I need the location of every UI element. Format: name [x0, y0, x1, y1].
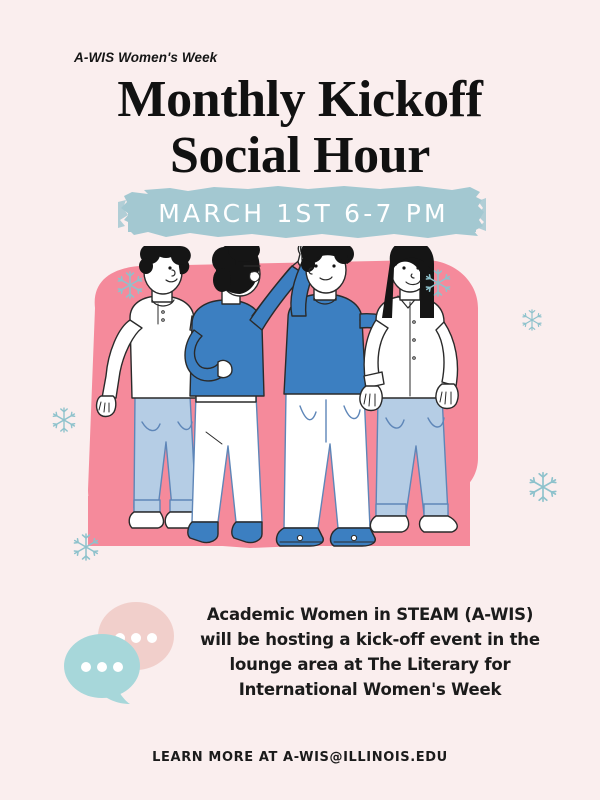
body-copy: Academic Women in STEAM (A-WIS) will be … [150, 602, 590, 702]
title-line-2: Social Hour [0, 128, 600, 184]
snowflake-icon [530, 473, 556, 502]
date-banner-text: MARCH 1ST 6-7 PM [118, 182, 486, 244]
eyebrow-label: A-WIS Women's Week [74, 50, 217, 65]
body-line-4: International Women's Week [150, 677, 590, 702]
body-line-2: will be hosting a kick-off event in the [150, 627, 590, 652]
title-line-1: Monthly Kickoff [0, 72, 600, 128]
speech-bubble-teal [64, 634, 140, 704]
body-line-1: Academic Women in STEAM (A-WIS) [150, 602, 590, 627]
date-banner: MARCH 1ST 6-7 PM [118, 182, 486, 244]
footer-contact: LEARN MORE AT A-WIS@ILLINOIS.EDU [0, 750, 600, 765]
body-line-3: lounge area at The Literary for [150, 652, 590, 677]
illustration-people-high-five [0, 246, 600, 576]
snowflake-icon [53, 408, 74, 432]
snowflake-icon [523, 310, 541, 330]
poster-canvas: A-WIS Women's Week Monthly Kickoff Socia… [0, 0, 600, 800]
page-title: Monthly Kickoff Social Hour [0, 72, 600, 184]
